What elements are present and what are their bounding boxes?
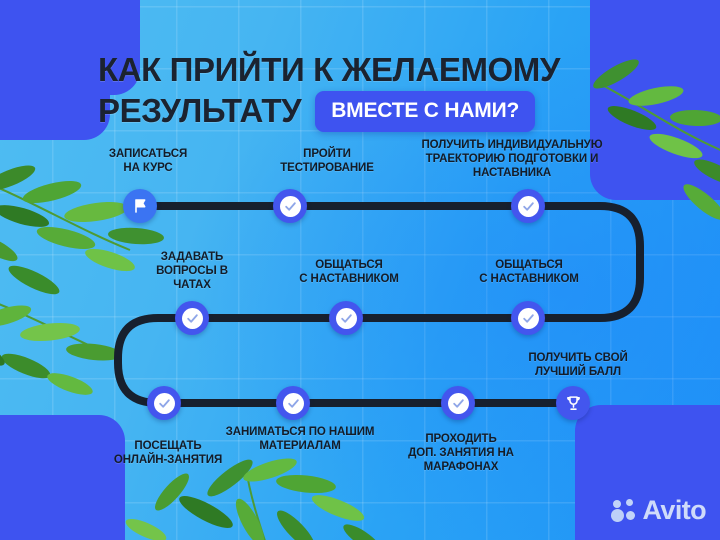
infographic-canvas: КАК ПРИЙТИ К ЖЕЛАЕМОМУ РЕЗУЛЬТАТУ ВМЕСТЕ… <box>0 0 720 540</box>
flag-icon <box>132 198 148 214</box>
node-inner-disc <box>283 393 304 414</box>
roadmap-node-10[interactable] <box>556 386 590 420</box>
check-icon <box>340 312 353 325</box>
avito-wordmark: Avito <box>643 495 707 526</box>
roadmap-node-2[interactable] <box>273 189 307 223</box>
page-title-line-2-row: РЕЗУЛЬТАТУ ВМЕСТЕ С НАМИ? <box>98 91 658 132</box>
node-inner-disc <box>280 196 301 217</box>
roadmap-node-4[interactable] <box>175 301 209 335</box>
roadmap-node-6[interactable] <box>511 301 545 335</box>
node-inner-disc <box>518 308 539 329</box>
roadmap-label-10: ПОЛУЧИТЬ СВОЙЛУЧШИЙ БАЛЛ <box>491 352 666 380</box>
page-title-line-1: КАК ПРИЙТИ К ЖЕЛАЕМОМУ <box>98 52 658 88</box>
check-icon <box>284 200 297 213</box>
node-inner-disc <box>154 393 175 414</box>
node-inner-disc <box>448 393 469 414</box>
roadmap-label-9: ПРОХОДИТЬДОП. ЗАНЯТИЯ НАМАРАФОНАХ <box>376 433 546 475</box>
node-inner-disc <box>518 196 539 217</box>
roadmap-node-3[interactable] <box>511 189 545 223</box>
roadmap-node-1[interactable] <box>123 189 157 223</box>
roadmap-node-8[interactable] <box>276 386 310 420</box>
title-badge: ВМЕСТЕ С НАМИ? <box>315 91 535 132</box>
check-icon <box>186 312 199 325</box>
check-icon <box>287 397 300 410</box>
trophy-icon <box>565 395 582 412</box>
avito-watermark: Avito <box>611 495 707 526</box>
roadmap-label-1: ЗАПИСАТЬСЯНА КУРС <box>83 148 213 176</box>
roadmap-node-7[interactable] <box>147 386 181 420</box>
roadmap-label-6: ОБЩАТЬСЯС НАСТАВНИКОМ <box>444 259 614 287</box>
avito-dots-logo-icon <box>611 498 637 524</box>
node-inner-disc <box>336 308 357 329</box>
check-icon <box>158 397 171 410</box>
roadmap-label-5: ОБЩАТЬСЯС НАСТАВНИКОМ <box>264 259 434 287</box>
node-inner-disc <box>182 308 203 329</box>
roadmap-label-4: ЗАДАВАТЬВОПРОСЫ ВЧАТАХ <box>127 251 257 293</box>
check-icon <box>522 200 535 213</box>
page-title-block: КАК ПРИЙТИ К ЖЕЛАЕМОМУ РЕЗУЛЬТАТУ ВМЕСТЕ… <box>98 52 658 132</box>
check-icon <box>522 312 535 325</box>
page-title-line-2: РЕЗУЛЬТАТУ <box>98 93 301 129</box>
roadmap-node-5[interactable] <box>329 301 363 335</box>
check-icon <box>452 397 465 410</box>
roadmap-label-2: ПРОЙТИТЕСТИРОВАНИЕ <box>247 148 407 176</box>
roadmap-label-3: ПОЛУЧИТЬ ИНДИВИДУАЛЬНУЮТРАЕКТОРИЮ ПОДГОТ… <box>392 139 632 181</box>
roadmap-node-9[interactable] <box>441 386 475 420</box>
